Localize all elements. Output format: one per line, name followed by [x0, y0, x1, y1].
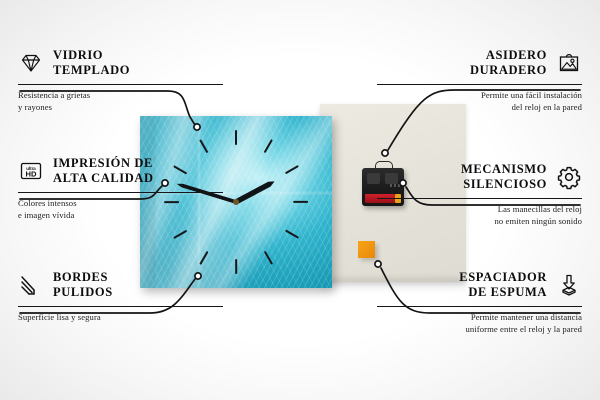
feature-polished-edges: BORDES PULIDOS Superficie lisa y segura [18, 268, 223, 324]
feature-title: VIDRIO TEMPLADO [53, 48, 130, 78]
feature-title: BORDES PULIDOS [53, 270, 113, 300]
feature-divider [377, 84, 582, 85]
feature-header: MECANISMO SILENCIOSO [377, 160, 582, 194]
hour-mark [235, 259, 237, 274]
hand-center-cap [233, 199, 239, 205]
feature-title: MECANISMO SILENCIOSO [461, 162, 547, 192]
picture-hanger-icon [556, 50, 582, 76]
feature-divider [18, 84, 223, 85]
foam-spacer-pad [358, 241, 375, 258]
feature-header: ESPACIADOR DE ESPUMA [377, 268, 582, 302]
feature-divider [377, 306, 582, 307]
feature-description: Las manecillas del reloj no emiten ningú… [377, 204, 582, 228]
feature-header: VIDRIO TEMPLADO [18, 46, 223, 80]
polished-edges-icon [18, 272, 44, 298]
feature-foam-spacer: ESPACIADOR DE ESPUMA Permite mantener un… [377, 268, 582, 336]
hour-mark [235, 130, 237, 145]
ultra-hd-badge-icon: ultra HD [18, 158, 44, 184]
product-infographic: VIDRIO TEMPLADO Resistencia a grietas y … [0, 0, 600, 400]
feature-description: Permite una fácil instalación del reloj … [377, 90, 582, 114]
feature-description: Permite mantener una distancia uniforme … [377, 312, 582, 336]
feature-high-quality-print: ultra HD IMPRESIÓN DE ALTA CALIDAD Color… [18, 154, 223, 222]
feature-silent-mechanism: MECANISMO SILENCIOSO Las manecillas del … [377, 160, 582, 228]
feature-divider [18, 306, 223, 307]
feature-description: Resistencia a grietas y rayones [18, 90, 223, 114]
feature-title: ESPACIADOR DE ESPUMA [459, 270, 547, 300]
hour-mark [293, 201, 308, 203]
feature-tempered-glass: VIDRIO TEMPLADO Resistencia a grietas y … [18, 46, 223, 114]
feature-header: BORDES PULIDOS [18, 268, 223, 302]
feature-header: ultra HD IMPRESIÓN DE ALTA CALIDAD [18, 154, 223, 188]
feature-durable-hanger: ASIDERO DURADERO Permite una fácil insta… [377, 46, 582, 114]
feature-divider [18, 192, 223, 193]
feature-title: ASIDERO DURADERO [470, 48, 547, 78]
svg-text:HD: HD [26, 170, 37, 179]
feature-divider [377, 198, 582, 199]
feature-header: ASIDERO DURADERO [377, 46, 582, 80]
diamond-icon [18, 50, 44, 76]
foam-spacer-icon [556, 272, 582, 298]
gear-icon [556, 164, 582, 190]
feature-title: IMPRESIÓN DE ALTA CALIDAD [53, 156, 154, 186]
feature-description: Colores intensos e imagen vívida [18, 198, 223, 222]
feature-description: Superficie lisa y segura [18, 312, 223, 324]
